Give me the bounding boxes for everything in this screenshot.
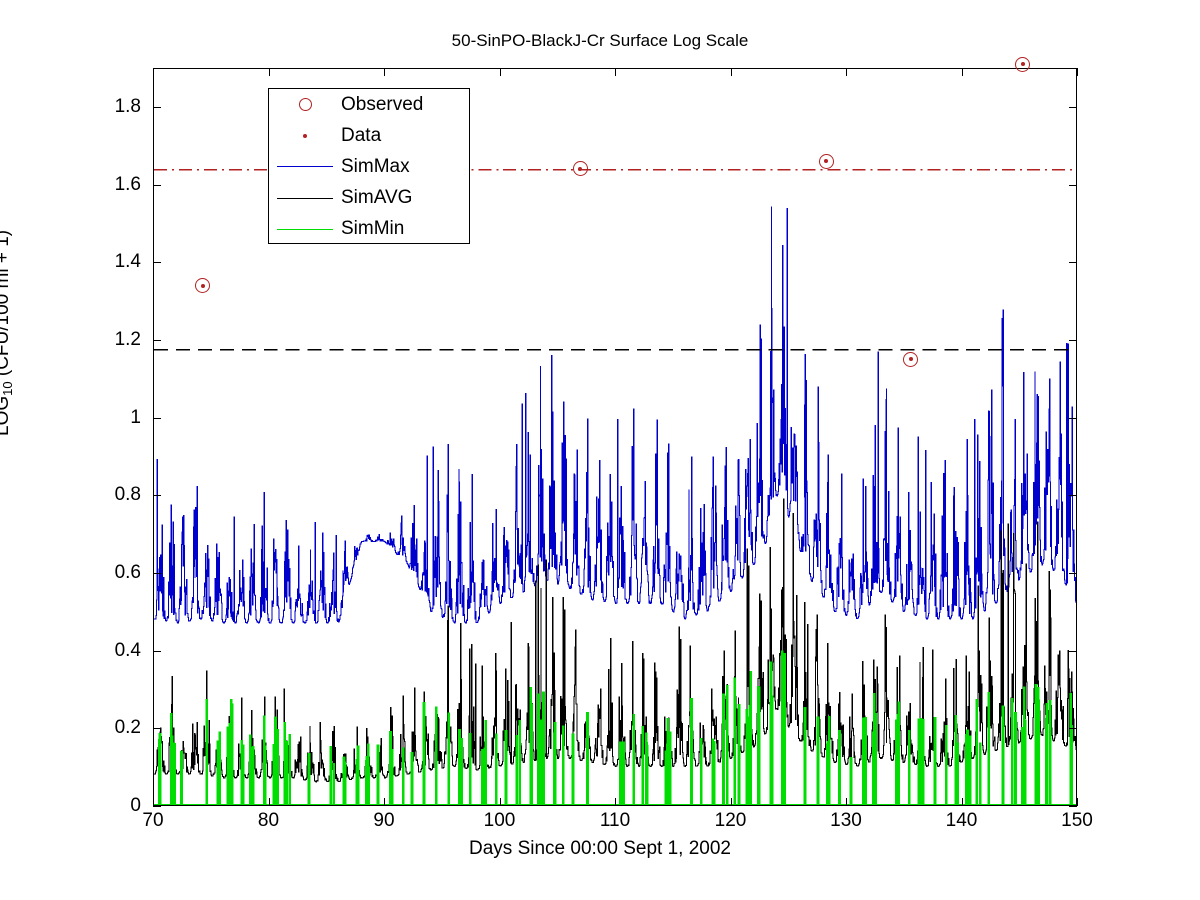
y-tick [153,495,161,496]
y-tick-right [1069,495,1077,496]
y-tick-label: 1.6 [81,174,141,196]
y-axis-title-rest: (CFU/100 ml + 1) [0,230,13,382]
y-tick-right [1069,185,1077,186]
y-tick-right [1069,806,1077,807]
series-simmin [154,651,1076,805]
x-tick-label: 130 [830,810,862,832]
y-tick-right [1069,340,1077,341]
observed-point-marker [819,154,834,169]
page-title: 50-SinPO-BlackJ-Cr Surface Log Scale [0,31,1200,51]
y-tick [153,806,161,807]
y-tick-label: 1.2 [81,329,141,351]
x-tick [269,798,270,806]
y-tick-label: 0.8 [81,484,141,506]
y-tick [153,262,161,263]
y-tick [153,573,161,574]
y-tick [153,107,161,108]
data-dot-icon [269,134,341,138]
x-tick-top [384,68,385,76]
legend-label-simavg: SimAVG [341,187,412,209]
x-axis-title: Days Since 00:00 Sept 1, 2002 [0,838,1200,860]
y-tick-right [1069,573,1077,574]
series-simavg [154,499,1076,782]
y-tick-label: 0.2 [81,717,141,739]
x-tick-label: 70 [142,810,163,832]
x-tick [615,798,616,806]
legend-item-observed: Observed [269,89,469,120]
y-tick [153,651,161,652]
y-tick [153,340,161,341]
y-tick [153,418,161,419]
x-tick [1077,798,1078,806]
x-tick [731,798,732,806]
y-tick-label: 0 [81,795,141,817]
x-tick-label: 140 [946,810,978,832]
simmax-line-icon [269,166,341,167]
x-tick [962,798,963,806]
x-tick-label: 80 [258,810,279,832]
legend-item-simmin: SimMin [269,214,469,245]
y-tick-label: 0.6 [81,562,141,584]
y-tick-label: 1.8 [81,96,141,118]
x-tick-top [269,68,270,76]
simmin-line-icon [269,229,341,230]
x-tick-label: 90 [373,810,394,832]
legend-label-observed: Observed [341,94,423,116]
x-tick-top [615,68,616,76]
figure-canvas: 50-SinPO-BlackJ-Cr Surface Log Scale LOG… [0,0,1200,900]
observed-circle-icon [269,98,341,111]
legend-label-simmax: SimMax [341,156,410,178]
y-axis-title-base: LOG [0,396,13,436]
x-tick [384,798,385,806]
x-tick-top [153,68,154,76]
y-tick-right [1069,262,1077,263]
x-tick-top [1077,68,1078,76]
x-tick-top [962,68,963,76]
x-tick-label: 100 [484,810,516,832]
observed-point-marker [903,352,918,367]
x-tick-label: 150 [1061,810,1093,832]
y-tick-right [1069,418,1077,419]
y-tick [153,728,161,729]
legend-item-simmax: SimMax [269,151,469,182]
y-tick-right [1069,651,1077,652]
x-tick-top [500,68,501,76]
y-axis-title-subscript: 10 [0,381,15,395]
x-tick-top [846,68,847,76]
y-tick-label: 1.4 [81,251,141,273]
y-axis-title: LOG10 (CFU/100 ml + 1) [0,230,14,436]
x-tick [846,798,847,806]
y-tick-right [1069,107,1077,108]
legend-label-simmin: SimMin [341,218,404,240]
legend-item-data: Data [269,120,469,151]
legend-label-data: Data [341,125,381,147]
x-tick-top [731,68,732,76]
y-tick-right [1069,728,1077,729]
y-tick [153,185,161,186]
x-tick [153,798,154,806]
y-tick-label: 0.4 [81,640,141,662]
simavg-line-icon [269,198,341,199]
x-tick-label: 120 [715,810,747,832]
legend-item-simavg: SimAVG [269,183,469,214]
x-tick [500,798,501,806]
y-tick-label: 1 [81,407,141,429]
observed-point-marker [1015,57,1030,72]
x-tick-label: 110 [600,810,630,832]
legend-box: Observed Data SimMax SimAVG SimMin [268,88,470,244]
series-simmax [154,207,1076,623]
